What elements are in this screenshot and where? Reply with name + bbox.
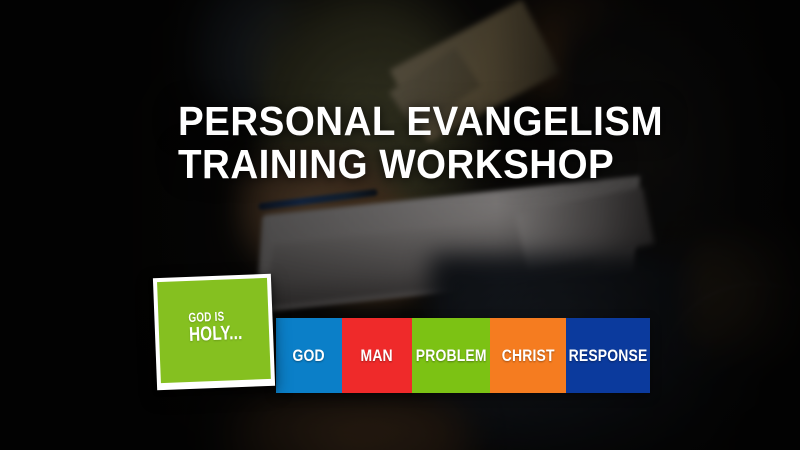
step-problem-label: PROBLEM xyxy=(416,346,487,366)
step-christ[interactable]: CHRIST xyxy=(490,318,566,393)
step-god[interactable]: GOD xyxy=(276,318,342,393)
slide-canvas: PERSONAL EVANGELISM TRAINING WORKSHOP GO… xyxy=(0,0,800,450)
god-is-holy-text: GOD IS HOLY... xyxy=(188,308,260,345)
god-is-holy-line-2: HOLY... xyxy=(189,323,243,345)
step-god-label: GOD xyxy=(293,346,325,366)
step-christ-label: CHRIST xyxy=(502,346,555,366)
step-response-label: RESPONSE xyxy=(569,346,648,366)
page-title: PERSONAL EVANGELISM TRAINING WORKSHOP xyxy=(178,100,698,186)
step-response[interactable]: RESPONSE xyxy=(566,318,650,393)
god-is-holy-card-face: GOD IS HOLY... xyxy=(157,278,271,383)
step-man[interactable]: MAN xyxy=(342,318,412,393)
gospel-steps-bar: GOD MAN PROBLEM CHRIST RESPONSE xyxy=(276,318,650,393)
step-man-label: MAN xyxy=(361,346,393,366)
step-problem[interactable]: PROBLEM xyxy=(412,318,490,393)
title-line-1: PERSONAL EVANGELISM xyxy=(178,100,667,143)
title-line-2: TRAINING WORKSHOP xyxy=(178,143,667,186)
god-is-holy-card[interactable]: GOD IS HOLY... xyxy=(153,274,275,390)
